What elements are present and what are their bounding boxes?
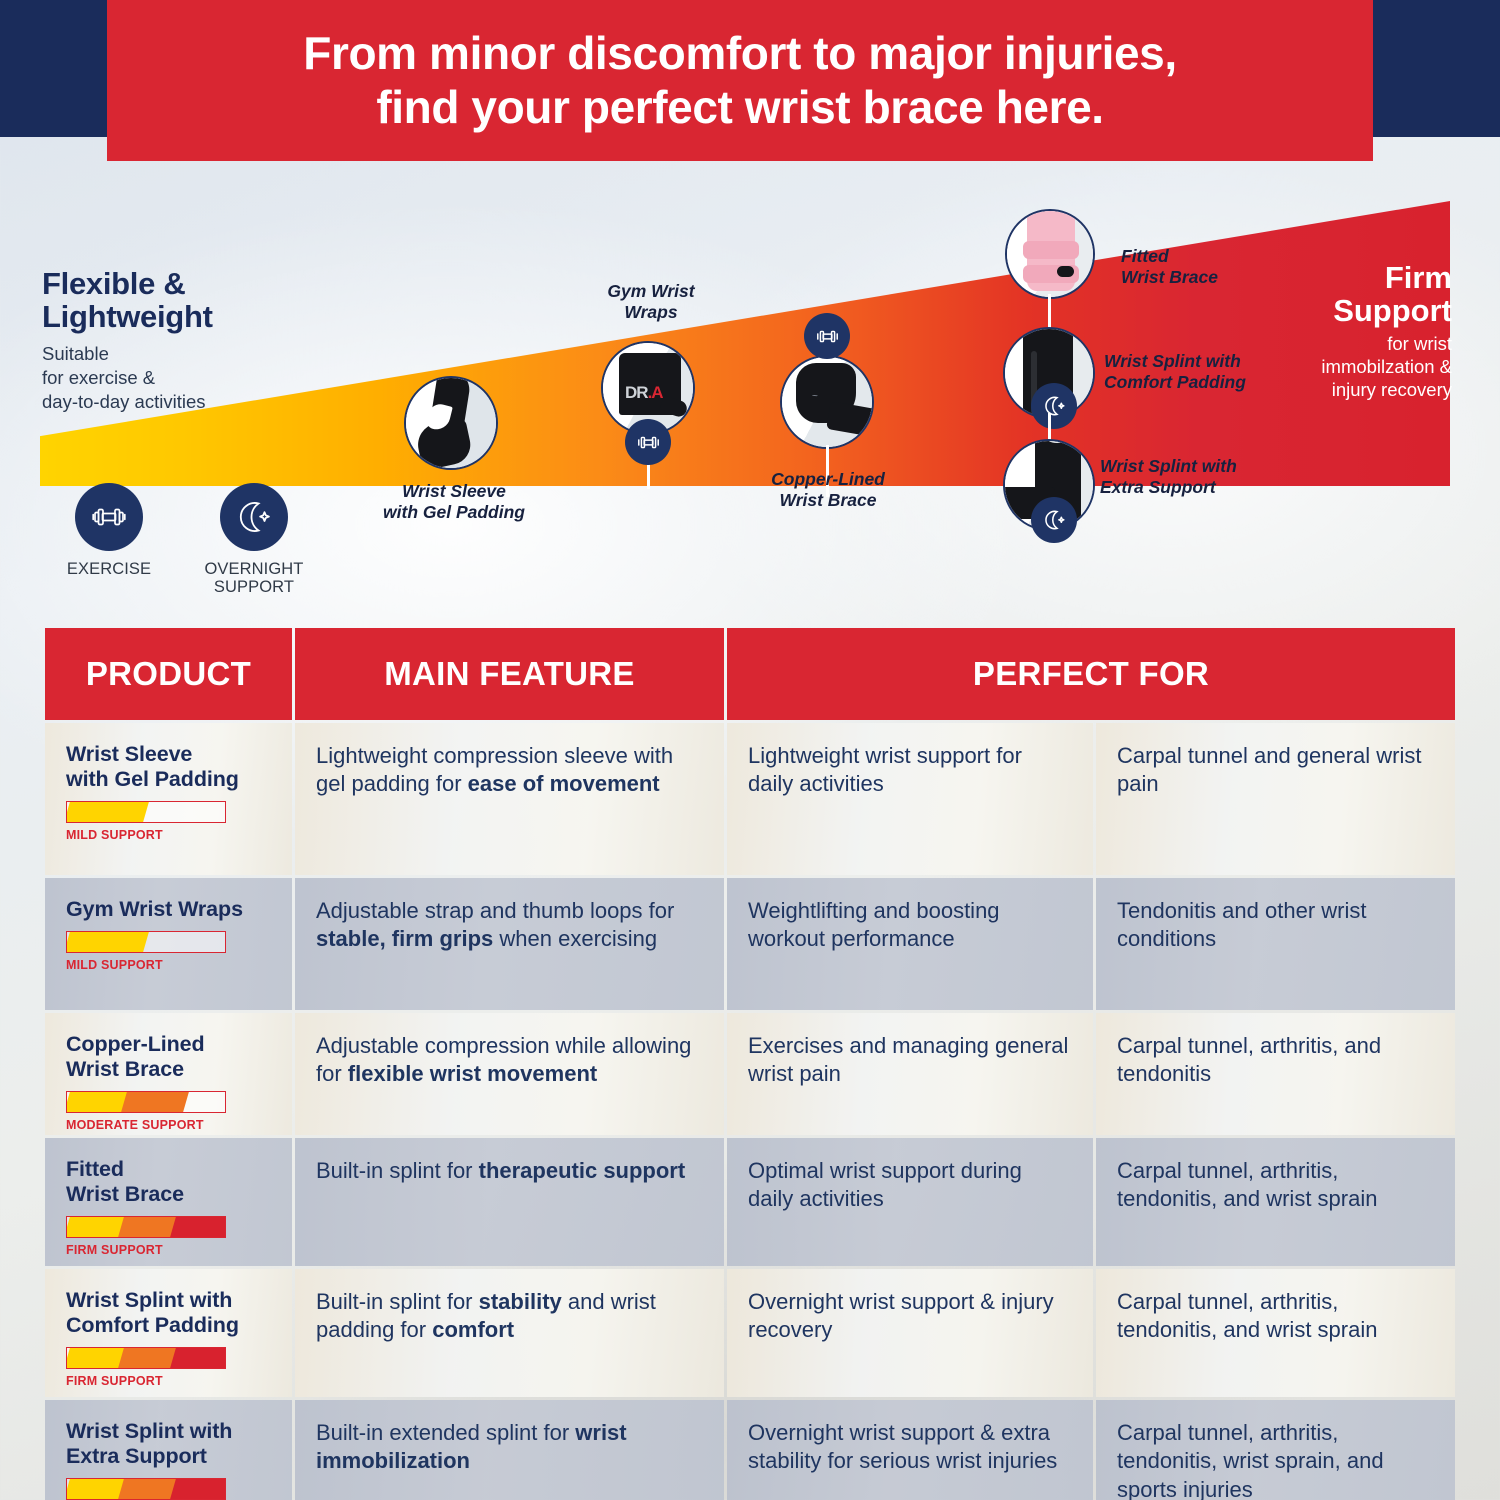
product-name: Gym Wrist Wraps (66, 897, 272, 922)
support-level-meter (66, 1478, 226, 1500)
page-title: From minor discomfort to major injuries,… (303, 27, 1176, 135)
conditions-text: Tendonitis and other wrist conditions (1117, 897, 1435, 954)
callout-label-fitted-wrist-brace: Fitted Wrist Brace (1121, 246, 1321, 287)
product-photo-copper-lined-brace: ~ (780, 355, 874, 449)
conditions-text: Carpal tunnel, arthritis, and tendonitis (1117, 1032, 1435, 1089)
support-level-meter (66, 1347, 226, 1369)
callout-label-gym-wrist-wraps: Gym Wrist Wraps (560, 281, 742, 322)
flexible-sub-line3: day-to-day activities (42, 391, 205, 412)
main-feature-text: Lightweight compression sleeve with gel … (316, 742, 704, 799)
table-header-row: PRODUCT MAIN FEATURE PERFECT FOR (45, 628, 1455, 720)
meter-segment (170, 1479, 226, 1499)
support-level-meter (66, 801, 226, 823)
cell-perfect-for-conditions: Carpal tunnel, arthritis, and tendonitis (1096, 1013, 1455, 1135)
usage-badges: EXERCISE OVERNIGHT SUPPORT (50, 483, 313, 596)
table-row: Fitted Wrist BraceFIRM SUPPORTBuilt-in s… (45, 1138, 1455, 1266)
main-feature-text: Adjustable strap and thumb loops for sta… (316, 897, 704, 954)
flexible-sub-line2: for exercise & (42, 367, 155, 388)
cell-product: Copper-Lined Wrist BraceMODERATE SUPPORT (45, 1013, 292, 1135)
conditions-text: Carpal tunnel and general wrist pain (1117, 742, 1435, 799)
badge-overnight-label: OVERNIGHT SUPPORT (195, 560, 313, 596)
support-level-label: MILD SUPPORT (66, 958, 272, 972)
callout-label-wrist-sleeve: Wrist Sleeve with Gel Padding (360, 481, 548, 522)
cell-main-feature: Built-in splint for therapeutic support (295, 1138, 724, 1266)
meter-segment (66, 932, 149, 952)
cell-product: Fitted Wrist BraceFIRM SUPPORT (45, 1138, 292, 1266)
headline-line-2: find your perfect wrist brace here. (376, 81, 1103, 133)
cell-product: Gym Wrist WrapsMILD SUPPORT (45, 878, 292, 1010)
product-name: Wrist Splint with Comfort Padding (66, 1288, 272, 1338)
conditions-text: Carpal tunnel, arthritis, tendonitis, an… (1117, 1157, 1435, 1214)
table-row: Wrist Splint with Comfort PaddingFIRM SU… (45, 1269, 1455, 1397)
conditions-text: Carpal tunnel, arthritis, tendonitis, wr… (1117, 1419, 1435, 1500)
meter-segment (170, 1217, 226, 1237)
flexible-heading-line2: Lightweight (42, 299, 213, 334)
cell-product: Wrist Splint with Comfort PaddingFIRM SU… (45, 1269, 292, 1397)
meter-segment (121, 1092, 188, 1112)
cell-perfect-for-primary: Lightweight wrist support for daily acti… (727, 723, 1093, 875)
cell-product: Wrist Splint with Extra SupportFIRM SUPP… (45, 1400, 292, 1500)
firm-heading-line1: Firm (1385, 260, 1452, 295)
moon-icon (1031, 497, 1077, 543)
cell-perfect-for-primary: Overnight wrist support & extra stabilit… (727, 1400, 1093, 1500)
cell-perfect-for-primary: Optimal wrist support during daily activ… (727, 1138, 1093, 1266)
dumbbell-icon (804, 313, 850, 359)
conditions-text: Carpal tunnel, arthritis, tendonitis, an… (1117, 1288, 1435, 1345)
cell-perfect-for-conditions: Carpal tunnel, arthritis, tendonitis, an… (1096, 1269, 1455, 1397)
main-feature-text: Built-in extended splint for wrist immob… (316, 1419, 704, 1476)
product-name: Wrist Sleeve with Gel Padding (66, 742, 272, 792)
badge-overnight-support: OVERNIGHT SUPPORT (195, 483, 313, 596)
product-photo-fitted-wrist-brace (1005, 209, 1095, 299)
headline-banner: From minor discomfort to major injuries,… (107, 0, 1373, 161)
perfect-for-text: Overnight wrist support & injury recover… (748, 1288, 1073, 1345)
product-name: Copper-Lined Wrist Brace (66, 1032, 272, 1082)
perfect-for-text: Exercises and managing general wrist pai… (748, 1032, 1073, 1089)
cell-main-feature: Adjustable strap and thumb loops for sta… (295, 878, 724, 1010)
column-header-product: PRODUCT (45, 628, 292, 720)
moon-icon (1031, 383, 1077, 429)
table-body: Wrist Sleeve with Gel PaddingMILD SUPPOR… (45, 723, 1455, 1500)
support-level-label: MILD SUPPORT (66, 828, 272, 842)
support-level-label: FIRM SUPPORT (66, 1374, 272, 1388)
table-row: Wrist Splint with Extra SupportFIRM SUPP… (45, 1400, 1455, 1500)
main-feature-text: Adjustable compression while allowing fo… (316, 1032, 704, 1089)
flexible-heading-line1: Flexible & (42, 266, 185, 301)
support-level-meter (66, 931, 226, 953)
firm-sub-line3: injury recovery (1332, 379, 1452, 400)
table-row: Gym Wrist WrapsMILD SUPPORTAdjustable st… (45, 878, 1455, 1010)
headline-line-1: From minor discomfort to major injuries, (303, 27, 1176, 79)
dumbbell-icon (75, 483, 143, 551)
badge-exercise-label: EXERCISE (50, 560, 168, 578)
cell-perfect-for-conditions: Carpal tunnel, arthritis, tendonitis, an… (1096, 1138, 1455, 1266)
meter-segment (66, 802, 149, 822)
cell-perfect-for-conditions: Tendonitis and other wrist conditions (1096, 878, 1455, 1010)
cell-main-feature: Lightweight compression sleeve with gel … (295, 723, 724, 875)
comparison-table: PRODUCT MAIN FEATURE PERFECT FOR Wrist S… (45, 628, 1455, 1468)
column-header-main-feature: MAIN FEATURE (295, 628, 724, 720)
callout-stem-comfort-padding (1048, 294, 1051, 330)
product-photo-wrist-sleeve (404, 376, 498, 470)
perfect-for-text: Weightlifting and boosting workout perfo… (748, 897, 1073, 954)
cell-main-feature: Built-in splint for stability and wrist … (295, 1269, 724, 1397)
cell-main-feature: Built-in extended splint for wrist immob… (295, 1400, 724, 1500)
main-feature-text: Built-in splint for therapeutic support (316, 1157, 704, 1185)
support-spectrum: Flexible & Lightweight Suitable for exer… (0, 161, 1500, 626)
meter-segment (170, 1348, 226, 1368)
cell-main-feature: Adjustable compression while allowing fo… (295, 1013, 724, 1135)
firm-sub-line2: immobilzation & (1321, 356, 1452, 377)
dumbbell-icon (625, 419, 671, 465)
callout-label-comfort-padding: Wrist Splint with Comfort Padding (1104, 351, 1334, 392)
cell-perfect-for-conditions: Carpal tunnel, arthritis, tendonitis, wr… (1096, 1400, 1455, 1500)
column-header-perfect-for: PERFECT FOR (727, 628, 1455, 720)
badge-exercise: EXERCISE (50, 483, 168, 596)
perfect-for-text: Overnight wrist support & extra stabilit… (748, 1419, 1073, 1476)
moon-icon (220, 483, 288, 551)
perfect-for-text: Optimal wrist support during daily activ… (748, 1157, 1073, 1214)
product-name: Wrist Splint with Extra Support (66, 1419, 272, 1469)
perfect-for-text: Lightweight wrist support for daily acti… (748, 742, 1073, 799)
flexible-sub-line1: Suitable (42, 343, 109, 364)
table-row: Wrist Sleeve with Gel PaddingMILD SUPPOR… (45, 723, 1455, 875)
support-level-meter (66, 1216, 226, 1238)
table-row: Copper-Lined Wrist BraceMODERATE SUPPORT… (45, 1013, 1455, 1135)
firm-sub-line1: for wrist (1387, 333, 1452, 354)
support-level-label: MODERATE SUPPORT (66, 1118, 272, 1132)
callout-label-extra-support: Wrist Splint with Extra Support (1100, 456, 1330, 497)
cell-perfect-for-primary: Exercises and managing general wrist pai… (727, 1013, 1093, 1135)
main-feature-text: Built-in splint for stability and wrist … (316, 1288, 704, 1345)
cell-product: Wrist Sleeve with Gel PaddingMILD SUPPOR… (45, 723, 292, 875)
cell-perfect-for-primary: Overnight wrist support & injury recover… (727, 1269, 1093, 1397)
cell-perfect-for-conditions: Carpal tunnel and general wrist pain (1096, 723, 1455, 875)
firm-heading-line2: Support (1333, 293, 1452, 328)
product-name: Fitted Wrist Brace (66, 1157, 272, 1207)
spectrum-left-label: Flexible & Lightweight Suitable for exer… (42, 267, 342, 413)
support-level-label: FIRM SUPPORT (66, 1243, 272, 1257)
callout-label-copper-lined-brace: Copper-Lined Wrist Brace (735, 469, 921, 510)
support-level-meter (66, 1091, 226, 1113)
cell-perfect-for-primary: Weightlifting and boosting workout perfo… (727, 878, 1093, 1010)
